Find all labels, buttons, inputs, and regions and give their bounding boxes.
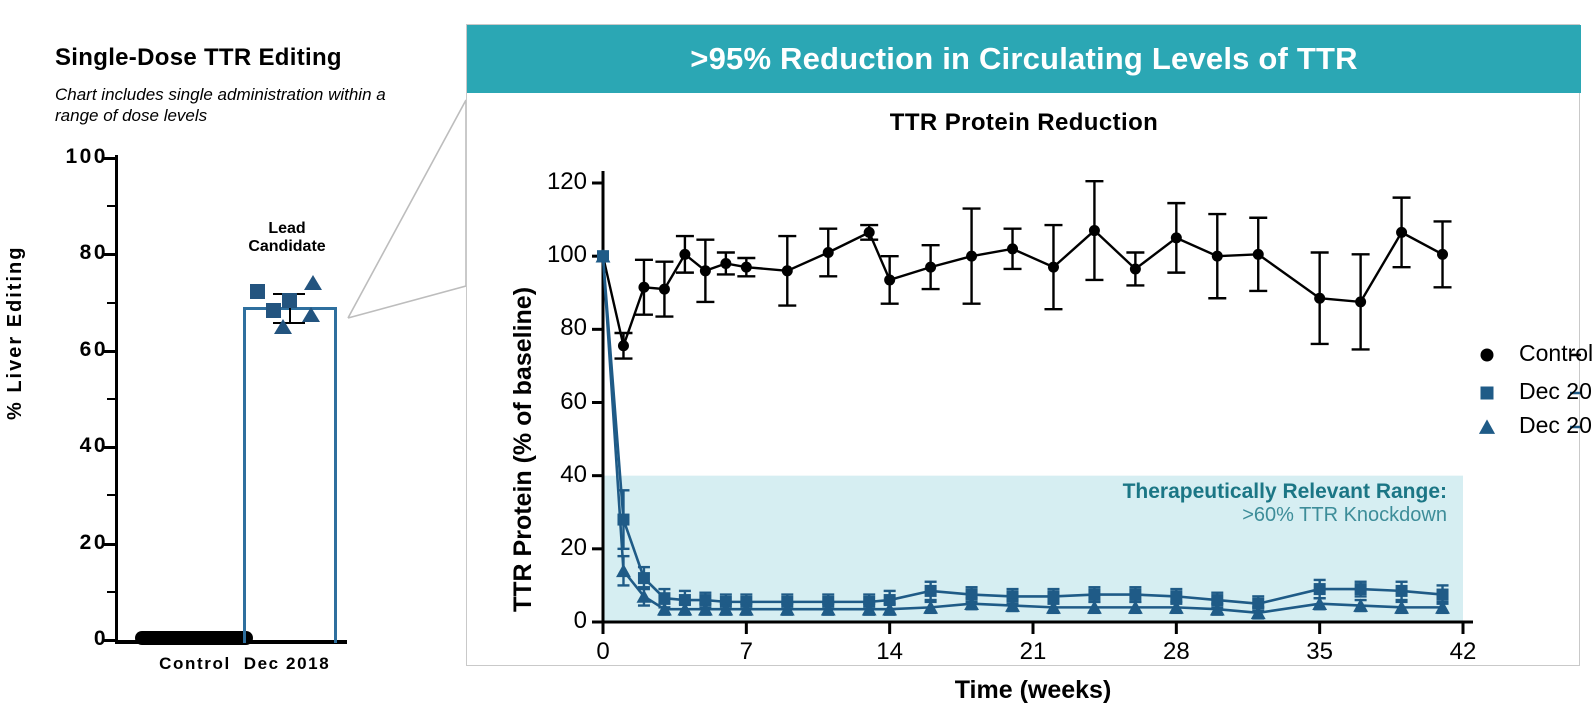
bar-scatter-point-square xyxy=(266,303,281,318)
data-point-marker xyxy=(659,284,670,295)
data-point-marker xyxy=(782,265,793,276)
bar-scatter-point-triangle xyxy=(302,307,320,322)
x-tick-label: 14 xyxy=(850,638,930,666)
data-point-marker xyxy=(1314,293,1325,304)
left-subtitle: Chart includes single administration wit… xyxy=(55,84,400,127)
bar-y-tick-label: 60 xyxy=(36,338,108,362)
data-point-marker xyxy=(1355,583,1367,595)
therapeutic-range-line1: Therapeutically Relevant Range: xyxy=(1027,480,1447,504)
data-point-marker xyxy=(720,258,731,269)
y-tick-label: 100 xyxy=(507,241,587,269)
x-tick-label: 42 xyxy=(1423,638,1503,666)
bar-y-tick-label: 100 xyxy=(36,145,108,169)
legend-marker-circle xyxy=(1481,349,1494,362)
therapeutic-range-line2: >60% TTR Knockdown xyxy=(1027,504,1447,527)
lead-candidate-line2: Candidate xyxy=(248,238,325,255)
data-point-marker xyxy=(1129,589,1141,601)
legend-label-2[interactable]: Dec 2018-Dose Level #2 xyxy=(1519,412,1592,439)
bar-y-tick-label: 40 xyxy=(36,434,108,458)
bar-scatter-point-square xyxy=(250,284,265,299)
data-point-marker xyxy=(679,249,690,260)
therapeutic-range-annotation: Therapeutically Relevant Range:>60% TTR … xyxy=(1027,480,1447,527)
legend-label-0[interactable]: Control xyxy=(1519,340,1592,367)
x-axis-title: Time (weeks) xyxy=(603,676,1463,705)
y-axis-title: TTR Protein (% of baseline) xyxy=(509,287,538,612)
data-point-marker xyxy=(1048,262,1059,273)
x-tick-label: 0 xyxy=(563,638,643,666)
data-point-marker xyxy=(741,262,752,273)
bar-scatter-point-square xyxy=(282,293,297,308)
data-point-marker xyxy=(618,340,629,351)
bar-y-tick-mark-minor xyxy=(107,591,117,593)
control-data-blob xyxy=(135,631,253,645)
right-panel: >95% Reduction in Circulating Levels of … xyxy=(466,24,1580,666)
data-point-marker xyxy=(1355,296,1366,307)
data-point-marker xyxy=(1089,225,1100,236)
bar-chart-y-axis-label: % Liver Editing xyxy=(4,246,27,420)
data-point-marker xyxy=(1130,263,1141,274)
bar-y-tick-mark-minor xyxy=(107,398,117,400)
data-point-marker xyxy=(1481,349,1494,362)
data-point-marker xyxy=(1479,419,1495,434)
line-chart-canvas xyxy=(467,25,1581,667)
bar-y-tick-mark-minor xyxy=(107,302,117,304)
x-tick-label: 7 xyxy=(706,638,786,666)
bar-y-tick-mark xyxy=(103,639,117,642)
left-panel: Single-Dose TTR Editing Chart includes s… xyxy=(0,0,462,690)
bar-y-tick-mark-minor xyxy=(107,205,117,207)
bar-x-label-dec-2018: Dec 2018 xyxy=(197,654,377,674)
data-point-marker xyxy=(1212,251,1223,262)
data-point-marker xyxy=(700,265,711,276)
legend-label-1[interactable]: Dec 2018-Dose Level #1 xyxy=(1519,378,1592,405)
data-point-marker xyxy=(925,585,937,597)
data-point-marker xyxy=(823,247,834,258)
data-point-marker xyxy=(884,274,895,285)
data-point-marker xyxy=(638,572,650,584)
data-point-marker xyxy=(1171,232,1182,243)
data-point-marker xyxy=(966,251,977,262)
x-tick-label: 21 xyxy=(993,638,1073,666)
data-point-marker xyxy=(925,262,936,273)
figure-root: Single-Dose TTR Editing Chart includes s… xyxy=(0,0,1592,690)
bar-y-tick-label: 20 xyxy=(36,531,108,555)
data-point-marker xyxy=(1396,227,1407,238)
lead-candidate-annotation: Lead Candidate xyxy=(207,220,367,257)
y-tick-label: 120 xyxy=(507,168,587,196)
legend-marker-square xyxy=(1481,387,1494,400)
bar-y-tick-label: 0 xyxy=(36,627,108,651)
bar-scatter-point-triangle xyxy=(304,275,322,290)
bar-y-tick-mark xyxy=(103,543,117,546)
bar-y-tick-mark xyxy=(103,446,117,449)
legend-marker-triangle xyxy=(1479,419,1495,434)
data-point-marker xyxy=(1437,249,1448,260)
line-chart: 020406080100120071421283542TTR Protein (… xyxy=(467,25,1581,667)
x-tick-label: 35 xyxy=(1280,638,1360,666)
data-point-marker xyxy=(1088,589,1100,601)
lead-candidate-line1: Lead xyxy=(268,220,305,237)
data-point-marker xyxy=(1314,583,1326,595)
series-line xyxy=(603,231,1443,346)
x-tick-label: 28 xyxy=(1136,638,1216,666)
data-point-marker xyxy=(864,227,875,238)
data-point-marker xyxy=(1396,585,1408,597)
bar-y-tick-label: 80 xyxy=(36,241,108,265)
data-point-marker xyxy=(1253,249,1264,260)
bar-y-tick-mark xyxy=(103,157,117,160)
left-title: Single-Dose TTR Editing xyxy=(55,44,415,72)
data-point-marker xyxy=(638,282,649,293)
bar-y-tick-mark xyxy=(103,253,117,256)
data-point-marker xyxy=(1007,243,1018,254)
bar-dec-2018 xyxy=(243,307,337,643)
data-point-marker xyxy=(1481,387,1494,400)
bar-scatter-point-triangle xyxy=(274,319,292,334)
bar-y-tick-mark-minor xyxy=(107,494,117,496)
series-control xyxy=(598,181,1452,358)
bar-y-tick-mark xyxy=(103,350,117,353)
data-point-marker xyxy=(1437,589,1449,601)
bar-chart: % Liver Editing 020406080100 ControlDec … xyxy=(0,150,462,670)
